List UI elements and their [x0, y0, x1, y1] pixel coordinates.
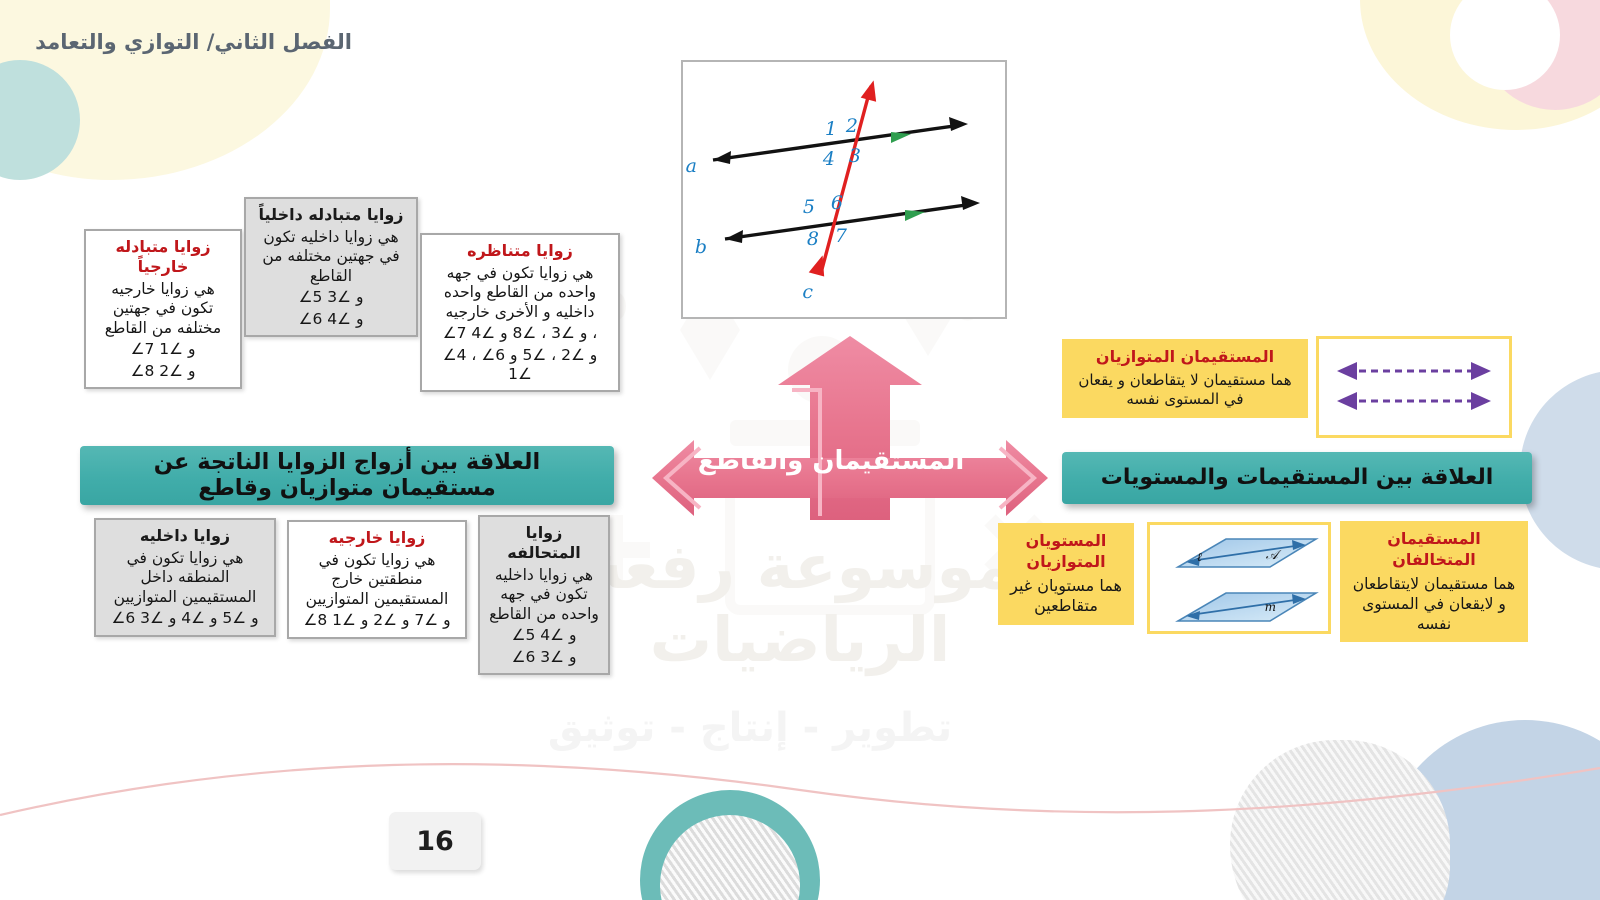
card-title: زوايا داخليه: [103, 526, 267, 546]
decoration-top-right-yellow: [1360, 0, 1600, 130]
svg-text:3: 3: [849, 145, 861, 167]
svg-text:4: 4: [822, 148, 835, 170]
card-title: زوايا متبادله داخلياً: [253, 205, 409, 225]
decoration-wave-line: [0, 720, 1600, 860]
angles-diagram-box: 1 2 3 4 5 6 7 8 a b c: [681, 60, 1007, 319]
card-body: هما مستقيمان لايتقاطعان و لايقعان في الم…: [1349, 574, 1519, 634]
card-body: هي زوايا تكون في منطقتين خارج المستقيمين…: [296, 551, 458, 609]
banner-label: العلاقة بين المستقيمات والمستويات: [1101, 465, 1494, 490]
svg-text:7: 7: [835, 225, 848, 247]
card-body: هي زوايا خارجيه تكون في جهتين مختلفه من …: [93, 280, 233, 338]
card-title: المستويان المتوازيان: [1007, 531, 1125, 573]
svg-text:8: 8: [807, 228, 819, 250]
page-number-badge: 16: [389, 812, 481, 870]
parallel-planes-illustration: ℓ 𝒜 𝒝 m: [1147, 522, 1331, 634]
banner-label: العلاقة بين أزواج الزوايا الناتجة عن مست…: [94, 450, 600, 502]
svg-text:1: 1: [825, 118, 837, 140]
card-body: هي زوايا تكون في المنطقه داخل المستقيمين…: [103, 549, 267, 607]
card-angles-line-1: ∠6 و ∠5 و ∠4 و ∠3: [103, 609, 267, 628]
center-arrow-graphic: [596, 330, 1066, 520]
banner-lines-planes-relation: العلاقة بين المستقيمات والمستويات: [1062, 452, 1532, 504]
decoration-bottom-right-hatch: [1230, 740, 1450, 900]
parallel-lines-illustration: [1316, 336, 1512, 438]
card-angles-line-1: ∠8 و ∠7 و ∠2 و ∠1: [296, 611, 458, 630]
decoration-right-blue-circle: [1520, 370, 1600, 570]
card-body: هما مستقيمان لا يتقاطعان و يقعان في المس…: [1071, 371, 1299, 410]
card-angles-line-1: ∠7 و ∠1: [93, 340, 233, 359]
plane-bottom-line-label: m: [1265, 600, 1276, 614]
card-parallel-lines: المستقيمان المتوازيان هما مستقيمان لا يت…: [1062, 339, 1308, 418]
card-exterior-angles: زوايا خارجيه هي زوايا تكون في منطقتين خا…: [287, 520, 467, 639]
card-angles-line-1: ∠7 و ∠3 ، ∠8 و ∠4 ،: [429, 324, 611, 343]
svg-text:6: 6: [831, 192, 843, 214]
svg-text:2: 2: [845, 115, 858, 137]
page-number-label: 16: [416, 826, 454, 857]
card-body: هي زوايا داخليه تكون في جهتين مختلفه من …: [253, 228, 409, 286]
page-title: الفصل الثاني/ التوازي والتعامد: [12, 30, 352, 54]
card-title: المستقيمان المتخالفان: [1349, 529, 1519, 571]
card-title: زوايا متناظره: [429, 241, 611, 261]
angles-diagram-svg: 1 2 3 4 5 6 7 8 a b c: [683, 62, 1005, 317]
decoration-bottom-middle-teal-circle: [640, 790, 820, 900]
card-angles-line-2: ∠6 و ∠3: [487, 648, 601, 667]
card-title: زوايا متبادله خارجياً: [93, 237, 233, 277]
decoration-bottom-right-blue-circle: [1380, 720, 1600, 900]
decoration-top-left-yellow: [0, 0, 330, 180]
card-skew-lines: المستقيمان المتخالفان هما مستقيمان لايتق…: [1340, 521, 1528, 642]
svg-text:a: a: [686, 155, 697, 177]
decoration-top-right-white-circle: [1450, 0, 1560, 90]
card-corresponding-angles: زوايا متناظره هي زوايا تكون في جهه واحده…: [420, 233, 620, 392]
card-body: هي زوايا تكون في جهه واحده من القاطع واح…: [429, 264, 611, 322]
svg-text:c: c: [802, 281, 813, 303]
card-angles-line-2: ∠8 و ∠2: [93, 362, 233, 381]
decoration-top-left-teal-circle: [0, 60, 80, 180]
plane-top-line-label: ℓ: [1197, 550, 1202, 564]
card-angles-line-2: ∠6 و ∠4: [253, 310, 409, 329]
decoration-bottom-middle-hatch: [660, 815, 800, 900]
card-alternate-interior-angles: زوايا متبادله داخلياً هي زوايا داخليه تك…: [244, 197, 418, 337]
card-body: هي زوايا داخليه تكون في جهه واحده من الق…: [487, 566, 601, 624]
card-title: المستقيمان المتوازيان: [1071, 347, 1299, 368]
card-angles-line-1: ∠5 و ∠3: [253, 288, 409, 307]
card-parallel-planes: المستويان المتوازيان هما مستويان غير متق…: [998, 523, 1134, 625]
card-title: زوايا المتحالفه: [487, 523, 601, 563]
banner-angle-pairs-relation: العلاقة بين أزواج الزوايا الناتجة عن مست…: [80, 446, 614, 505]
card-alternate-exterior-angles: زوايا متبادله خارجياً هي زوايا خارجيه تك…: [84, 229, 242, 389]
card-co-interior-angles: زوايا المتحالفه هي زوايا داخليه تكون في …: [478, 515, 610, 675]
decoration-top-right-pink-circle: [1480, 0, 1600, 110]
svg-text:5: 5: [803, 196, 815, 218]
card-angles-line-1: ∠5 و ∠4: [487, 626, 601, 645]
card-interior-angles: زوايا داخليه هي زوايا تكون في المنطقه دا…: [94, 518, 276, 637]
card-angles-line-2: ∠4 ، ∠6 و ∠2 ، ∠5 و ∠1: [429, 346, 611, 385]
card-body: هما مستويان غير متقاطعين: [1007, 576, 1125, 618]
card-title: زوايا خارجيه: [296, 528, 458, 548]
watermark-tagline-text: تطوير - إنتاج - توثيق: [540, 705, 960, 751]
center-arrow-label: المستقيمان والقاطع: [596, 446, 1066, 476]
svg-text:b: b: [695, 236, 707, 258]
